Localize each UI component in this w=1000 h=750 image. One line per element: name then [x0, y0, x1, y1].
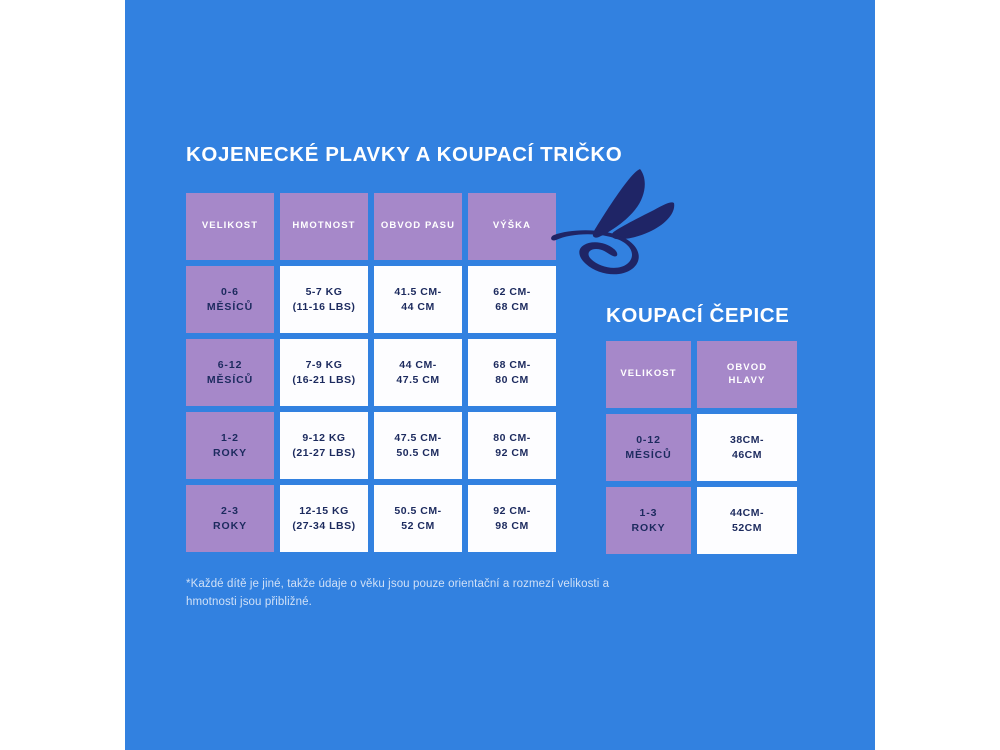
table-cell: 44CM-52CM [697, 487, 797, 554]
column-header-velikost: VELIKOST [186, 193, 274, 260]
column-header-vyska: VÝŠKA [468, 193, 556, 260]
column-header-obvod-pasu: OBVOD PASU [374, 193, 462, 260]
table-cell: 38CM-46CM [697, 414, 797, 481]
table-cell: 68 CM-80 CM [468, 339, 556, 406]
table-cell: 5-7 KG(11-16 LBS) [280, 266, 368, 333]
size-chart-canvas: KOJENECKÉ PLAVKY A KOUPACÍ TRIČKO VELIKO… [0, 0, 1000, 750]
column-header-obvod-hlavy: OBVODHLAVY [697, 341, 797, 408]
table-cell: 9-12 KG(21-27 LBS) [280, 412, 368, 479]
caps-size-table: VELIKOST OBVODHLAVY 0-12MĚSÍCŮ 38CM-46CM… [606, 341, 797, 554]
column-header-hmotnost: HMOTNOST [280, 193, 368, 260]
table-cell: 7-9 KG(16-21 LBS) [280, 339, 368, 406]
table-cell: 80 CM-92 CM [468, 412, 556, 479]
table-cell: 41.5 CM-44 CM [374, 266, 462, 333]
column-header-velikost: VELIKOST [606, 341, 691, 408]
table-cell: 92 CM-98 CM [468, 485, 556, 552]
table-cell: 12-15 KG(27-34 LBS) [280, 485, 368, 552]
row-header-size: 1-2ROKY [186, 412, 274, 479]
swimwear-section-title: KOJENECKÉ PLAVKY A KOUPACÍ TRIČKO [186, 143, 622, 167]
footnote-text: *Každé dítě je jiné, takže údaje o věku … [186, 576, 656, 612]
row-header-size: 1-3ROKY [606, 487, 691, 554]
table-cell: 50.5 CM-52 CM [374, 485, 462, 552]
swimwear-size-table: VELIKOST HMOTNOST OBVOD PASU VÝŠKA 0-6MĚ… [186, 193, 556, 552]
table-cell: 44 CM-47.5 CM [374, 339, 462, 406]
row-header-size: 6-12MĚSÍCŮ [186, 339, 274, 406]
table-cell: 62 CM-68 CM [468, 266, 556, 333]
table-cell: 47.5 CM-50.5 CM [374, 412, 462, 479]
row-header-size: 2-3ROKY [186, 485, 274, 552]
row-header-size: 0-6MĚSÍCŮ [186, 266, 274, 333]
caps-section-title: KOUPACÍ ČEPICE [606, 304, 789, 328]
row-header-size: 0-12MĚSÍCŮ [606, 414, 691, 481]
